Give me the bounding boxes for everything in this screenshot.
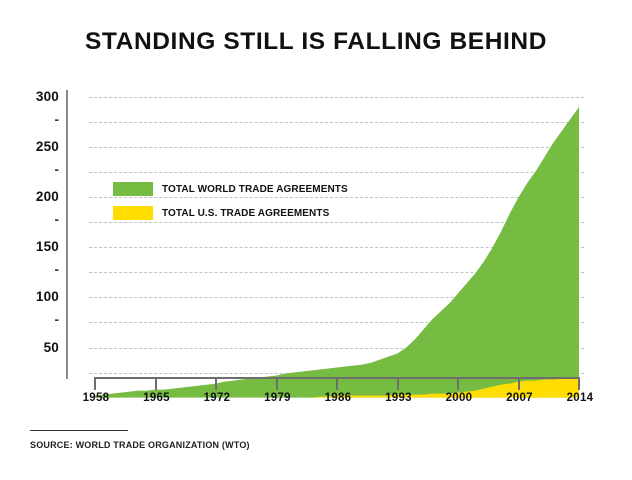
x-axis-label: 1979	[248, 392, 308, 404]
x-axis-label: 1965	[127, 392, 187, 404]
y-axis-label: 50	[15, 340, 59, 355]
y-axis-label: 300	[15, 89, 59, 104]
x-axis-tick	[397, 379, 399, 390]
source-divider	[30, 430, 128, 431]
y-axis-minor-mark: -	[15, 162, 59, 177]
x-axis-label: 1972	[187, 392, 247, 404]
x-axis-tick	[155, 379, 157, 390]
x-axis-tick	[336, 379, 338, 390]
x-axis-tick	[578, 379, 580, 390]
legend-label-world: TOTAL WORLD TRADE AGREEMENTS	[162, 184, 348, 195]
legend-swatch-world-icon	[113, 182, 153, 196]
x-axis-tick	[276, 379, 278, 390]
legend-swatch-us-icon	[113, 206, 153, 220]
legend-item-world: TOTAL WORLD TRADE AGREEMENTS	[113, 182, 373, 196]
legend-item-us: TOTAL U.S. TRADE AGREEMENTS	[113, 206, 373, 220]
x-axis-label: 1958	[66, 392, 126, 404]
x-axis-tick	[94, 379, 96, 390]
y-axis-minor-mark: -	[15, 212, 59, 227]
y-axis-label: 100	[15, 289, 59, 304]
x-axis-label: 1993	[369, 392, 429, 404]
x-axis-label: 2000	[429, 392, 489, 404]
x-axis-label: 1986	[308, 392, 368, 404]
y-axis-label: 250	[15, 139, 59, 154]
x-axis-ticks: 195819651972197919861993200020072014	[0, 379, 632, 409]
chart-root: STANDING STILL IS FALLING BEHIND 3002502…	[0, 0, 632, 480]
y-axis-minor-mark: -	[15, 262, 59, 277]
y-axis-minor-mark: -	[15, 312, 59, 327]
y-axis-label: 150	[15, 239, 59, 254]
source-note: SOURCE: WORLD TRADE ORGANIZATION (WTO)	[30, 440, 250, 450]
x-axis-tick	[518, 379, 520, 390]
x-axis-label: 2014	[550, 392, 610, 404]
x-axis-label: 2007	[490, 392, 550, 404]
y-axis-minor-mark: -	[15, 112, 59, 127]
x-axis-tick	[215, 379, 217, 390]
chart-legend: TOTAL WORLD TRADE AGREEMENTS TOTAL U.S. …	[113, 182, 373, 230]
legend-label-us: TOTAL U.S. TRADE AGREEMENTS	[162, 208, 329, 219]
y-axis-label: 200	[15, 189, 59, 204]
x-axis-tick	[457, 379, 459, 390]
